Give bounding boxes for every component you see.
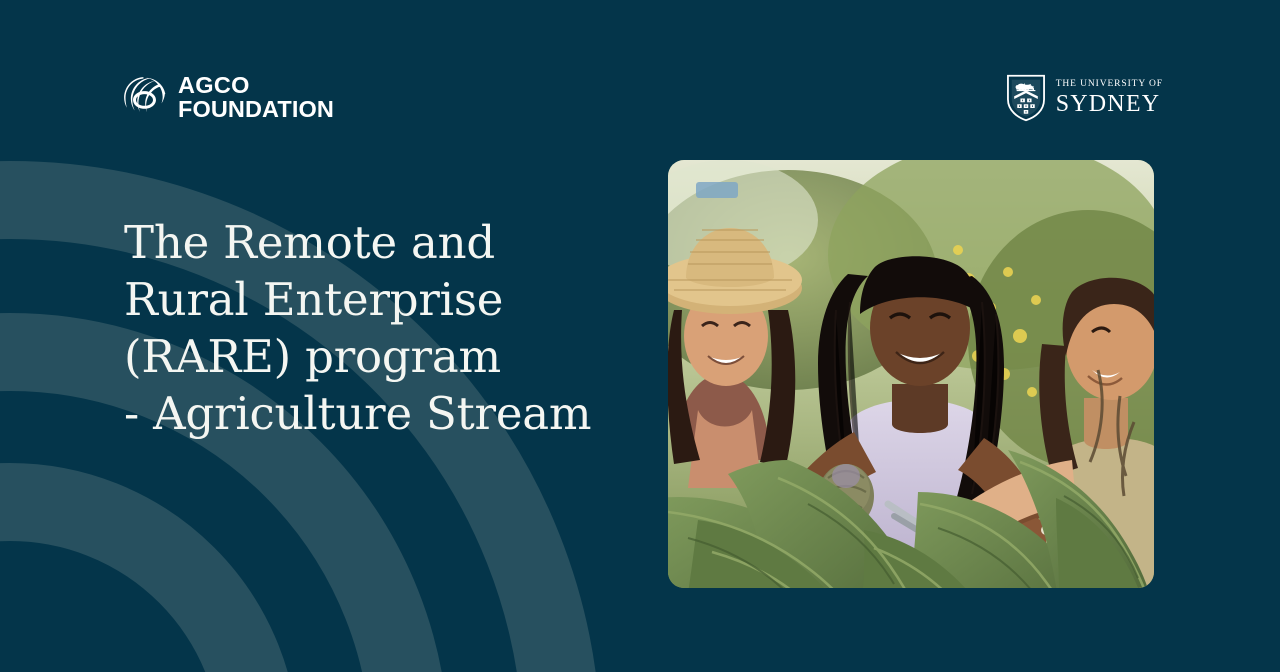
agco-wordmark-line1: AGCO <box>178 74 334 98</box>
title-line-1: The Remote and <box>124 214 644 271</box>
sydney-wordmark-line1: THE UNIVERSITY OF <box>1056 80 1163 90</box>
title-line-2: Rural Enterprise <box>124 271 644 328</box>
agco-wordmark: AGCO FOUNDATION <box>178 74 334 121</box>
sydney-wordmark-line2: SYDNEY <box>1056 92 1163 116</box>
slide-title: The Remote and Rural Enterprise (RARE) p… <box>124 214 644 442</box>
title-line-3: (RARE) program <box>124 328 644 385</box>
sydney-wordmark: THE UNIVERSITY OF SYDNEY <box>1056 80 1163 117</box>
title-line-4: - Agriculture Stream <box>124 385 644 442</box>
university-of-sydney-logo: THE UNIVERSITY OF SYDNEY <box>1005 73 1163 123</box>
agco-foundation-logo: AGCO FOUNDATION <box>122 74 334 121</box>
hero-photo <box>668 160 1154 588</box>
agco-wordmark-line2: FOUNDATION <box>178 98 334 122</box>
globe-swirl-icon <box>122 75 167 120</box>
presentation-slide: AGCO FOUNDATION THE UNIVERSITY OF <box>0 0 1280 672</box>
shield-crest-icon <box>1005 73 1047 123</box>
